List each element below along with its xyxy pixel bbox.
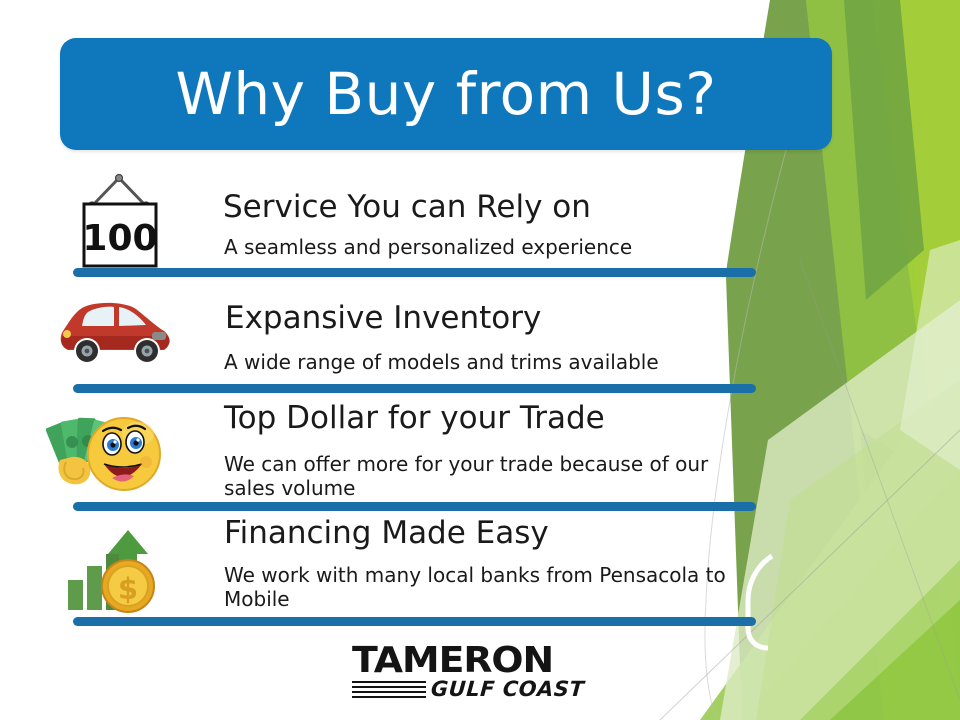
feature-heading-inventory: Expansive Inventory bbox=[225, 300, 541, 336]
logo-brand-name: TAMERON bbox=[352, 644, 553, 678]
slide-canvas: Why Buy from Us? 100 Service You can Rel… bbox=[0, 0, 960, 720]
growth-chart-dollar-coin-icon: $ bbox=[62, 524, 162, 616]
hanging-sign-100-icon: 100 bbox=[74, 172, 166, 270]
feature-subtext-service: A seamless and personalized experience bbox=[224, 235, 764, 259]
logo-region-name: GULF COAST bbox=[430, 679, 585, 700]
title-banner: Why Buy from Us? bbox=[60, 38, 832, 150]
sign-number-label: 100 bbox=[82, 218, 157, 259]
feature-subtext-financing: We work with many local banks from Pensa… bbox=[224, 563, 739, 612]
row-divider-3 bbox=[73, 502, 756, 511]
svg-text:$: $ bbox=[118, 572, 138, 606]
feature-heading-service: Service You can Rely on bbox=[223, 189, 591, 225]
row-divider-2 bbox=[73, 384, 756, 393]
feature-subtext-inventory: A wide range of models and trims availab… bbox=[224, 350, 784, 374]
row-divider-1 bbox=[73, 268, 756, 277]
feature-subtext-trade: We can offer more for your trade because… bbox=[224, 452, 759, 501]
red-car-icon bbox=[52, 296, 178, 372]
logo-rule-lines bbox=[352, 681, 426, 698]
tameron-gulf-coast-logo: TAMERON GULF COAST bbox=[352, 640, 592, 704]
smiley-with-money-icon bbox=[46, 404, 168, 496]
feature-heading-trade: Top Dollar for your Trade bbox=[224, 400, 605, 436]
page-title: Why Buy from Us? bbox=[175, 65, 716, 123]
feature-heading-financing: Financing Made Easy bbox=[224, 515, 549, 551]
row-divider-4 bbox=[73, 617, 756, 626]
